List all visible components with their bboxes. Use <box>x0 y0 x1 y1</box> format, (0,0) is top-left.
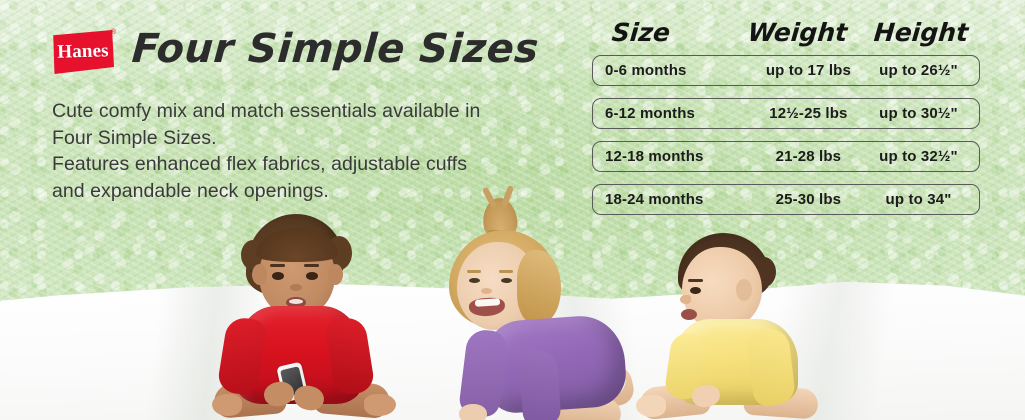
hanes-four-simple-sizes-banner: Hanes ® Four Simple Sizes Cute comfy mix… <box>0 0 1025 420</box>
page-title: Four Simple Sizes <box>130 26 540 72</box>
baby-purple-arm-front <box>458 328 508 418</box>
baby-yellow-hair <box>678 233 770 299</box>
phone-screen <box>280 366 305 397</box>
baby-purple-brow-left <box>467 270 481 273</box>
baby-purple-leg-front <box>544 392 623 420</box>
description-line-1: Cute comfy mix and match essentials avai… <box>52 98 552 125</box>
baby-yellow-leg-right <box>743 384 819 419</box>
table-row[interactable]: 6-12 months 12½-25 lbs up to 30½" <box>592 98 980 129</box>
baby-red-foot-right <box>364 394 396 416</box>
registered-trademark-icon: ® <box>111 29 116 36</box>
description-line-3: Features enhanced flex fabrics, adjustab… <box>52 151 552 178</box>
baby-yellow-arm-left <box>664 331 707 401</box>
cell-weight: 25-30 lbs <box>747 191 870 208</box>
table-row[interactable]: 0-6 months up to 17 lbs up to 26½" <box>592 55 980 86</box>
baby-yellow-eye <box>690 287 701 294</box>
baby-purple-diaper <box>578 356 628 401</box>
baby-purple-teeth <box>475 298 500 307</box>
description-line-2: Four Simple Sizes. <box>52 125 552 152</box>
baby-purple-hair-tie <box>487 230 513 238</box>
cell-size: 12-18 months <box>605 148 747 165</box>
baby-yellow-brow <box>688 279 703 282</box>
baby-yellow-arm-right <box>746 327 797 408</box>
baby-yellow-foot-left <box>636 395 666 417</box>
baby-red-brow-right <box>304 264 319 267</box>
column-header-weight: Weight <box>745 18 871 48</box>
baby-purple-eye-right <box>501 278 512 283</box>
description-text: Cute comfy mix and match essentials avai… <box>52 98 552 204</box>
baby-red <box>218 214 396 420</box>
baby-red-ear-right <box>328 264 343 285</box>
baby-yellow-head <box>682 247 762 329</box>
baby-red-arm-right <box>324 315 375 396</box>
baby-purple-leg-back <box>573 363 636 414</box>
phone-prop <box>276 362 308 403</box>
baby-red-nose <box>290 284 302 291</box>
baby-red-hand-right <box>292 383 327 414</box>
cell-height: up to 32½" <box>870 148 967 165</box>
baby-red-hair <box>248 214 344 288</box>
description-line-4: and expandable neck openings. <box>52 178 552 205</box>
size-chart-table: Size Weight Height 0-6 months up to 17 l… <box>592 18 980 227</box>
baby-purple-hair-side <box>517 250 561 324</box>
cell-size: 6-12 months <box>605 105 747 122</box>
baby-purple-head <box>457 242 539 330</box>
baby-red-teeth <box>289 299 303 304</box>
table-header-row: Size Weight Height <box>592 18 980 48</box>
white-blanket <box>0 240 1025 420</box>
cell-size: 18-24 months <box>605 191 747 208</box>
baby-yellow-mouth <box>681 309 697 320</box>
baby-red-foot-left <box>212 394 242 416</box>
baby-yellow-hand <box>690 383 721 410</box>
baby-red-leg-left <box>213 379 288 419</box>
baby-yellow-bodysuit <box>674 319 798 405</box>
cell-height: up to 34" <box>870 191 967 208</box>
table-row[interactable]: 18-24 months 25-30 lbs up to 34" <box>592 184 980 215</box>
baby-purple <box>425 200 635 420</box>
column-header-height: Height <box>869 18 970 48</box>
baby-purple-hand-front <box>459 404 487 420</box>
baby-red-eye-right <box>306 272 318 280</box>
cell-weight: up to 17 lbs <box>747 62 870 79</box>
baby-purple-mouth <box>468 297 505 317</box>
baby-purple-brow-right <box>499 270 513 273</box>
baby-red-leg-right <box>313 379 392 419</box>
baby-red-mouth <box>286 297 306 308</box>
baby-purple-bodysuit <box>482 313 628 415</box>
baby-yellow-leg-left <box>639 381 712 420</box>
cell-size: 0-6 months <box>605 62 747 79</box>
baby-red-bodysuit <box>236 306 362 404</box>
baby-purple-hair <box>449 230 559 328</box>
baby-purple-eye-left <box>469 278 480 283</box>
baby-red-brow-left <box>270 264 285 267</box>
baby-red-ear-left <box>252 264 267 285</box>
blanket-folds <box>0 240 1025 420</box>
cell-weight: 21-28 lbs <box>747 148 870 165</box>
baby-red-fringe <box>256 228 338 262</box>
hanes-logo-text: Hanes <box>51 29 114 75</box>
table-row[interactable]: 12-18 months 21-28 lbs up to 32½" <box>592 141 980 172</box>
left-content-column: Hanes ® Four Simple Sizes Cute comfy mix… <box>52 26 552 204</box>
cell-height: up to 26½" <box>870 62 967 79</box>
cell-height: up to 30½" <box>870 105 967 122</box>
baby-red-arm-left <box>216 315 267 396</box>
baby-yellow-nose <box>680 295 691 304</box>
baby-purple-arm-back <box>518 349 561 420</box>
cell-weight: 12½-25 lbs <box>747 105 870 122</box>
title-row: Hanes ® Four Simple Sizes <box>52 26 552 78</box>
baby-red-head <box>259 232 335 316</box>
column-header-size: Size <box>603 18 748 48</box>
hanes-logo[interactable]: Hanes ® <box>52 30 118 78</box>
baby-purple-nose <box>481 288 492 294</box>
baby-yellow-ear <box>736 279 752 301</box>
baby-yellow <box>650 235 820 420</box>
baby-red-eye-left <box>272 272 284 280</box>
baby-red-hand-left <box>262 379 296 409</box>
